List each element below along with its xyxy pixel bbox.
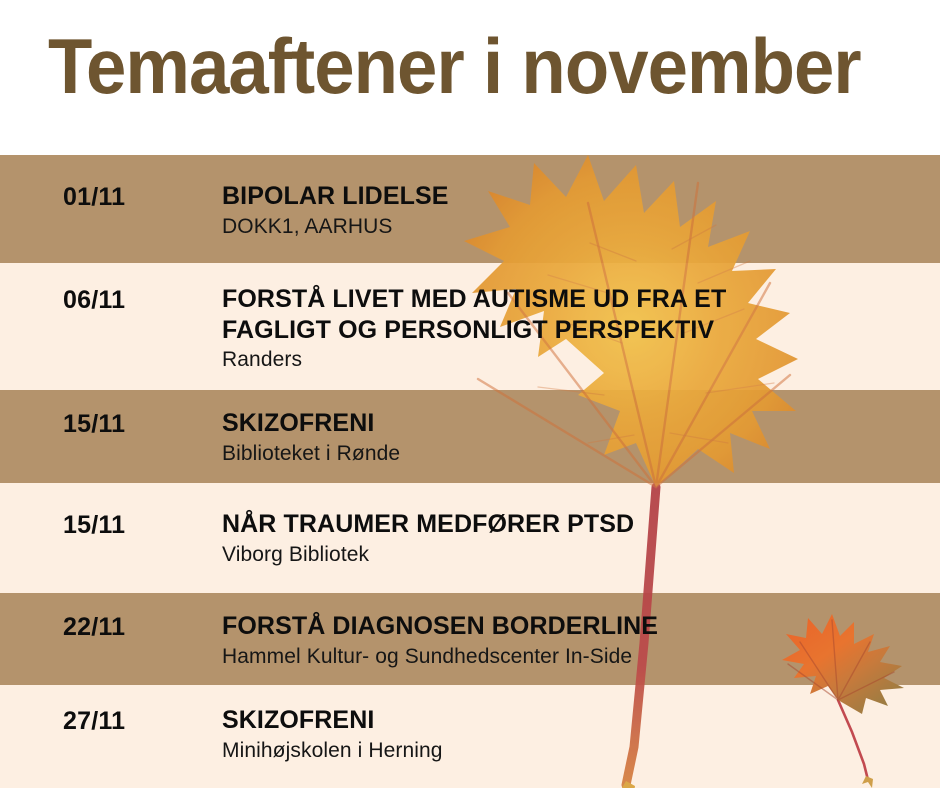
event-date: 01/11 <box>63 183 125 212</box>
event-venue: Biblioteket i Rønde <box>222 441 922 467</box>
schedule-row[interactable]: 01/11 BIPOLAR LIDELSE DOKK1, AARHUS <box>0 155 940 263</box>
event-date: 22/11 <box>63 613 125 642</box>
event-venue: Minihøjskolen i Herning <box>222 738 922 764</box>
event-venue: Hammel Kultur- og Sundhedscenter In-Side <box>222 644 922 670</box>
event-venue: Randers <box>222 347 922 373</box>
page-title: Temaaftener i november <box>48 27 861 105</box>
event-info: SKIZOFRENI Biblioteket i Rønde <box>222 408 922 467</box>
event-title: NÅR TRAUMER MEDFØRER PTSD <box>222 509 922 540</box>
event-info: FORSTÅ LIVET MED AUTISME UD FRA ET FAGLI… <box>222 284 922 373</box>
event-date: 27/11 <box>63 707 125 736</box>
event-date: 15/11 <box>63 410 125 439</box>
schedule-row[interactable]: 15/11 SKIZOFRENI Biblioteket i Rønde <box>0 390 940 483</box>
poster-canvas: Temaaftener i november 01/11 BIPOLAR LID… <box>0 0 940 788</box>
event-title: FORSTÅ LIVET MED AUTISME UD FRA ET FAGLI… <box>222 284 922 345</box>
header-band: Temaaftener i november <box>0 0 940 155</box>
event-venue: DOKK1, AARHUS <box>222 214 922 240</box>
event-date: 06/11 <box>63 286 125 315</box>
event-title: BIPOLAR LIDELSE <box>222 181 922 212</box>
event-info: NÅR TRAUMER MEDFØRER PTSD Viborg Bibliot… <box>222 509 922 568</box>
event-info: FORSTÅ DIAGNOSEN BORDERLINE Hammel Kultu… <box>222 611 922 670</box>
schedule-row[interactable]: 15/11 NÅR TRAUMER MEDFØRER PTSD Viborg B… <box>0 483 940 593</box>
event-info: SKIZOFRENI Minihøjskolen i Herning <box>222 705 922 764</box>
schedule-row[interactable]: 27/11 SKIZOFRENI Minihøjskolen i Herning <box>0 685 940 788</box>
event-title: FORSTÅ DIAGNOSEN BORDERLINE <box>222 611 922 642</box>
event-title: SKIZOFRENI <box>222 705 922 736</box>
event-date: 15/11 <box>63 511 125 540</box>
event-venue: Viborg Bibliotek <box>222 542 922 568</box>
event-title: SKIZOFRENI <box>222 408 922 439</box>
schedule-row[interactable]: 22/11 FORSTÅ DIAGNOSEN BORDERLINE Hammel… <box>0 593 940 685</box>
event-info: BIPOLAR LIDELSE DOKK1, AARHUS <box>222 181 922 240</box>
schedule-row[interactable]: 06/11 FORSTÅ LIVET MED AUTISME UD FRA ET… <box>0 263 940 390</box>
